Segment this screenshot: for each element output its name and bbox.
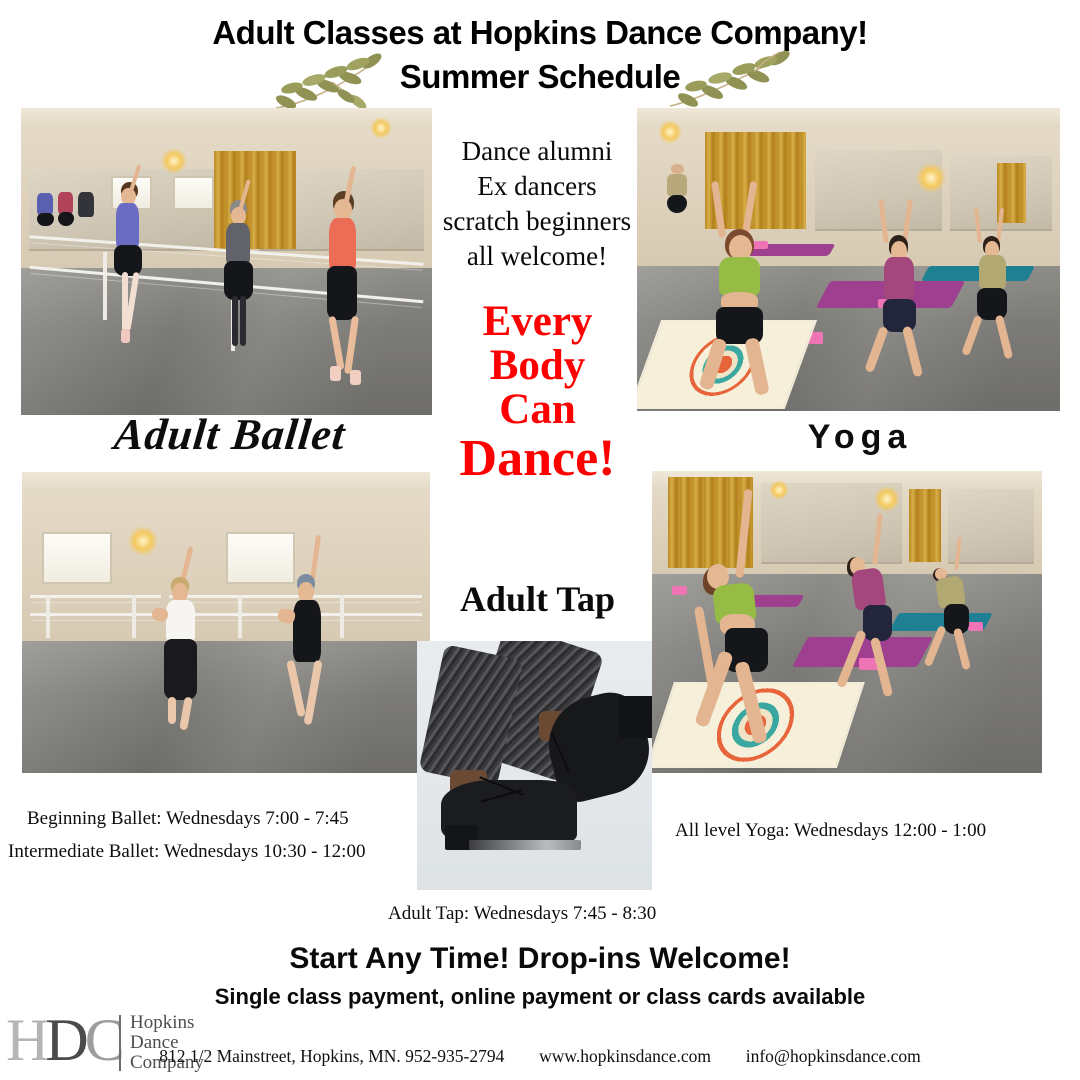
cta-subtext: Single class payment, online payment or … (0, 984, 1080, 1010)
adult-ballet-barre-photo (21, 108, 432, 415)
schedule-all-level-yoga: All level Yoga: Wednesdays 12:00 - 1:00 (675, 820, 986, 842)
footer-email[interactable]: info@hopkinsdance.com (746, 1046, 921, 1067)
logo-word-hopkins: Hopkins (130, 1013, 204, 1033)
page-title-line2: Summer Schedule (0, 58, 1080, 96)
tap-shoes-photo (417, 641, 652, 890)
olive-branch-icon (262, 48, 402, 114)
welcome-line-1: Dance alumni (437, 134, 637, 169)
yoga-warrior-pose-photo (637, 108, 1060, 411)
slogan-word-every: Every (425, 300, 650, 344)
welcome-line-2: Ex dancers (437, 169, 637, 204)
schedule-intermediate-ballet: Intermediate Ballet: Wednesdays 10:30 - … (8, 841, 365, 863)
page-title-line1: Adult Classes at Hopkins Dance Company! (0, 14, 1080, 52)
footer-contact-bar: 812 1/2 Mainstreet, Hopkins, MN. 952-935… (0, 1046, 1080, 1067)
adult-tap-heading: Adult Tap (425, 578, 650, 620)
poster-canvas: Adult Classes at Hopkins Dance Company! … (0, 0, 1080, 1080)
cta-headline: Start Any Time! Drop-ins Welcome! (0, 942, 1080, 976)
welcome-line-3: scratch beginners (437, 204, 637, 239)
welcome-line-4: all welcome! (437, 239, 637, 274)
olive-branch-icon (662, 48, 802, 114)
adult-ballet-center-photo (22, 472, 430, 773)
schedule-adult-tap: Adult Tap: Wednesdays 7:45 - 8:30 (388, 903, 656, 925)
slogan-every-body-can-dance: Every Body Can Dance! (425, 300, 650, 485)
caption-yoga: Yoga (760, 418, 960, 457)
slogan-word-can: Can (425, 388, 650, 432)
welcome-copy: Dance alumni Ex dancers scratch beginner… (437, 134, 637, 274)
slogan-word-dance: Dance! (425, 432, 650, 485)
yoga-triangle-pose-photo (652, 471, 1042, 773)
caption-adult-ballet: Adult Ballet (92, 409, 367, 460)
slogan-word-body: Body (425, 344, 650, 388)
schedule-beginning-ballet: Beginning Ballet: Wednesdays 7:00 - 7:45 (27, 808, 349, 830)
footer-website[interactable]: www.hopkinsdance.com (539, 1046, 711, 1067)
footer-address: 812 1/2 Mainstreet, Hopkins, MN. 952-935… (159, 1046, 504, 1067)
